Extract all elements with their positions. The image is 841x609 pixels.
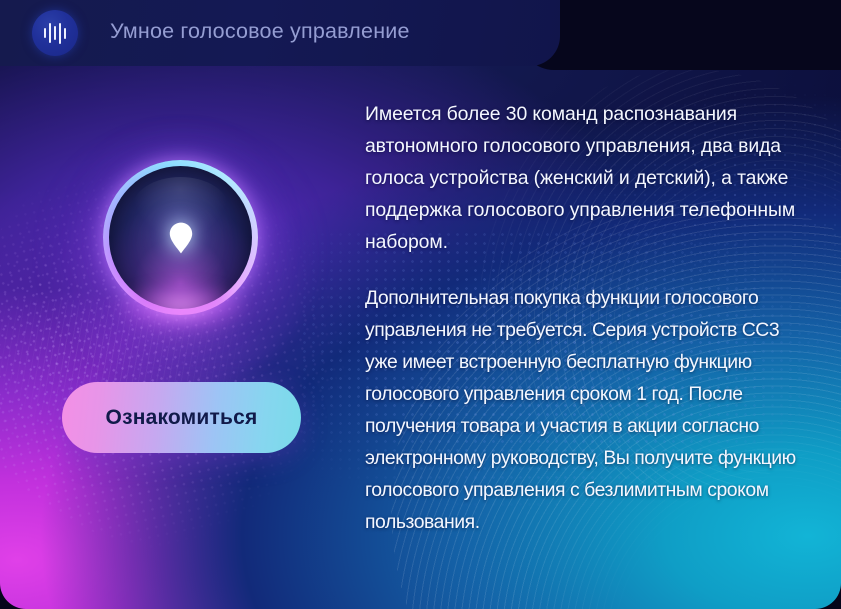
header-notch bbox=[520, 0, 841, 70]
location-pin-icon bbox=[168, 221, 194, 255]
description-text-column: Имеется более 30 команд распознавания ав… bbox=[365, 98, 815, 538]
page-title: Умное голосовое управление bbox=[110, 19, 410, 44]
equalizer-bars bbox=[44, 22, 66, 44]
learn-more-button[interactable]: Ознакомиться bbox=[62, 382, 301, 453]
orb-bottom-glow bbox=[113, 286, 249, 334]
paragraph-features: Имеется более 30 команд распознавания ав… bbox=[365, 98, 815, 258]
sound-wave-icon bbox=[32, 10, 78, 56]
voice-control-promo-card: Умное голосовое управление Ознакомиться … bbox=[0, 0, 841, 609]
paragraph-offer: Дополнительная покупка функции голосовог… bbox=[365, 282, 815, 538]
voice-assistant-orb bbox=[103, 160, 258, 315]
